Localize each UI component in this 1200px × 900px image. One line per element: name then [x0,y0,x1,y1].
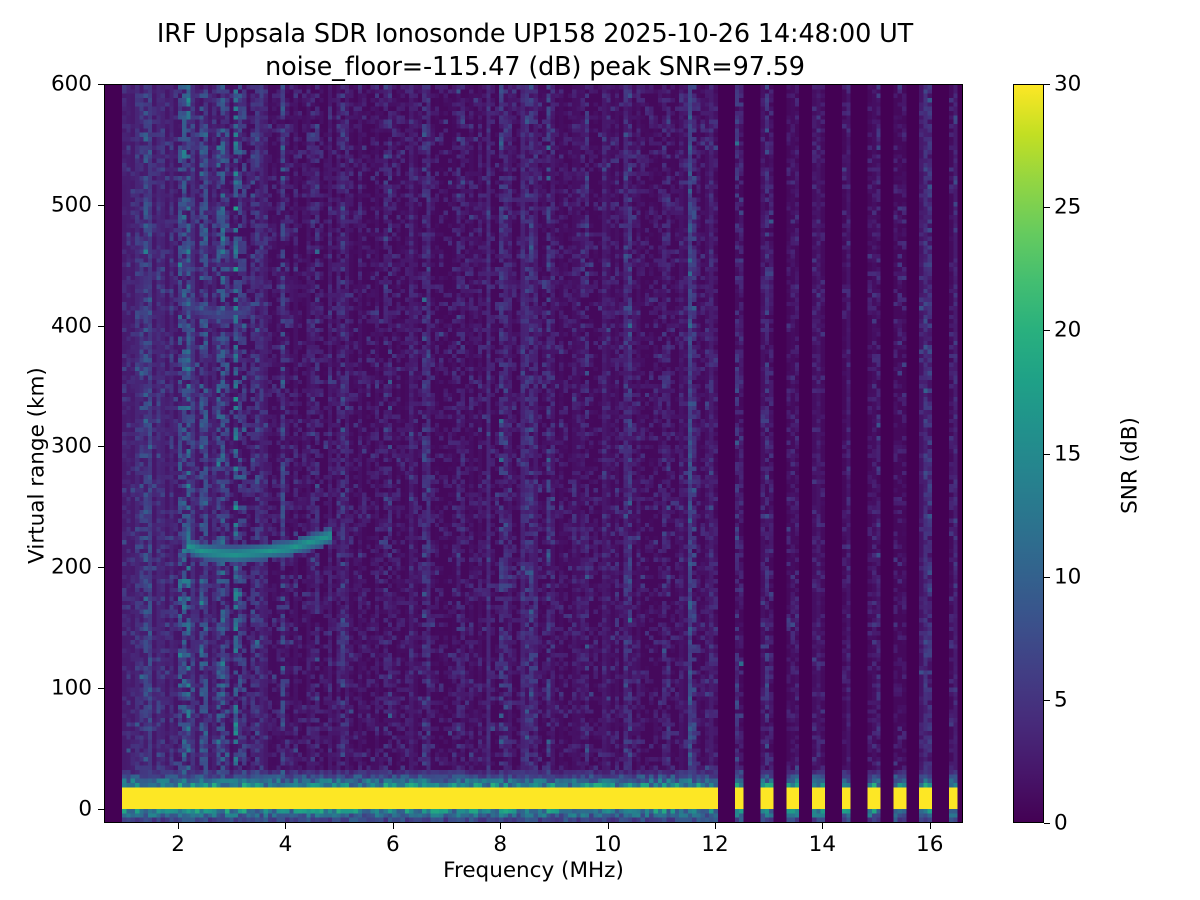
x-tick-mark [500,823,501,829]
x-tick-label: 16 [916,832,943,857]
y-tick-mark [98,809,104,810]
y-tick-label: 200 [51,555,92,580]
x-tick-mark [393,823,394,829]
y-tick-mark [98,688,104,689]
colorbar-label: SNR (dB) [1118,256,1143,676]
x-tick-label: 6 [386,832,400,857]
colorbar-tick-label: 15 [1054,441,1081,466]
figure-title: IRF Uppsala SDR Ionosonde UP158 2025-10-… [0,18,1070,83]
x-tick-label: 10 [594,832,621,857]
x-tick-label: 14 [809,832,836,857]
colorbar-tick-label: 30 [1054,72,1081,97]
colorbar [1013,84,1044,823]
colorbar-tick-mark [1044,577,1050,578]
colorbar-tick-label: 20 [1054,318,1081,343]
title-line-1: IRF Uppsala SDR Ionosonde UP158 2025-10-… [0,18,1070,51]
y-tick-label: 500 [51,192,92,217]
x-tick-label: 8 [493,832,507,857]
y-tick-label: 300 [51,434,92,459]
y-tick-label: 400 [51,313,92,338]
x-tick-label: 12 [701,832,728,857]
colorbar-tick-mark [1044,330,1050,331]
x-tick-mark [608,823,609,829]
colorbar-gradient [1014,85,1043,822]
colorbar-tick-label: 5 [1054,687,1068,712]
x-tick-label: 4 [279,832,293,857]
y-axis-label: Virtual range (km) [25,186,50,746]
y-tick-mark [98,205,104,206]
x-axis-label: Frequency (MHz) [104,858,963,883]
colorbar-tick-label: 10 [1054,564,1081,589]
x-tick-mark [178,823,179,829]
colorbar-tick-mark [1044,84,1050,85]
colorbar-tick-label: 0 [1054,811,1068,836]
x-tick-label: 2 [171,832,185,857]
ionogram-heatmap [105,85,962,822]
colorbar-tick-mark [1044,700,1050,701]
colorbar-tick-label: 25 [1054,195,1081,220]
x-tick-mark [822,823,823,829]
ionogram-figure: IRF Uppsala SDR Ionosonde UP158 2025-10-… [0,0,1200,900]
colorbar-tick-mark [1044,454,1050,455]
y-tick-mark [98,446,104,447]
colorbar-tick-mark [1044,823,1050,824]
y-tick-label: 100 [51,675,92,700]
y-tick-mark [98,84,104,85]
y-tick-mark [98,567,104,568]
title-line-2: noise_floor=-115.47 (dB) peak SNR=97.59 [0,51,1070,84]
y-tick-mark [98,326,104,327]
x-tick-mark [285,823,286,829]
y-tick-label: 600 [51,72,92,97]
x-tick-mark [715,823,716,829]
ionogram-plot-area [104,84,963,823]
colorbar-tick-mark [1044,207,1050,208]
x-tick-mark [930,823,931,829]
y-tick-label: 0 [78,796,92,821]
